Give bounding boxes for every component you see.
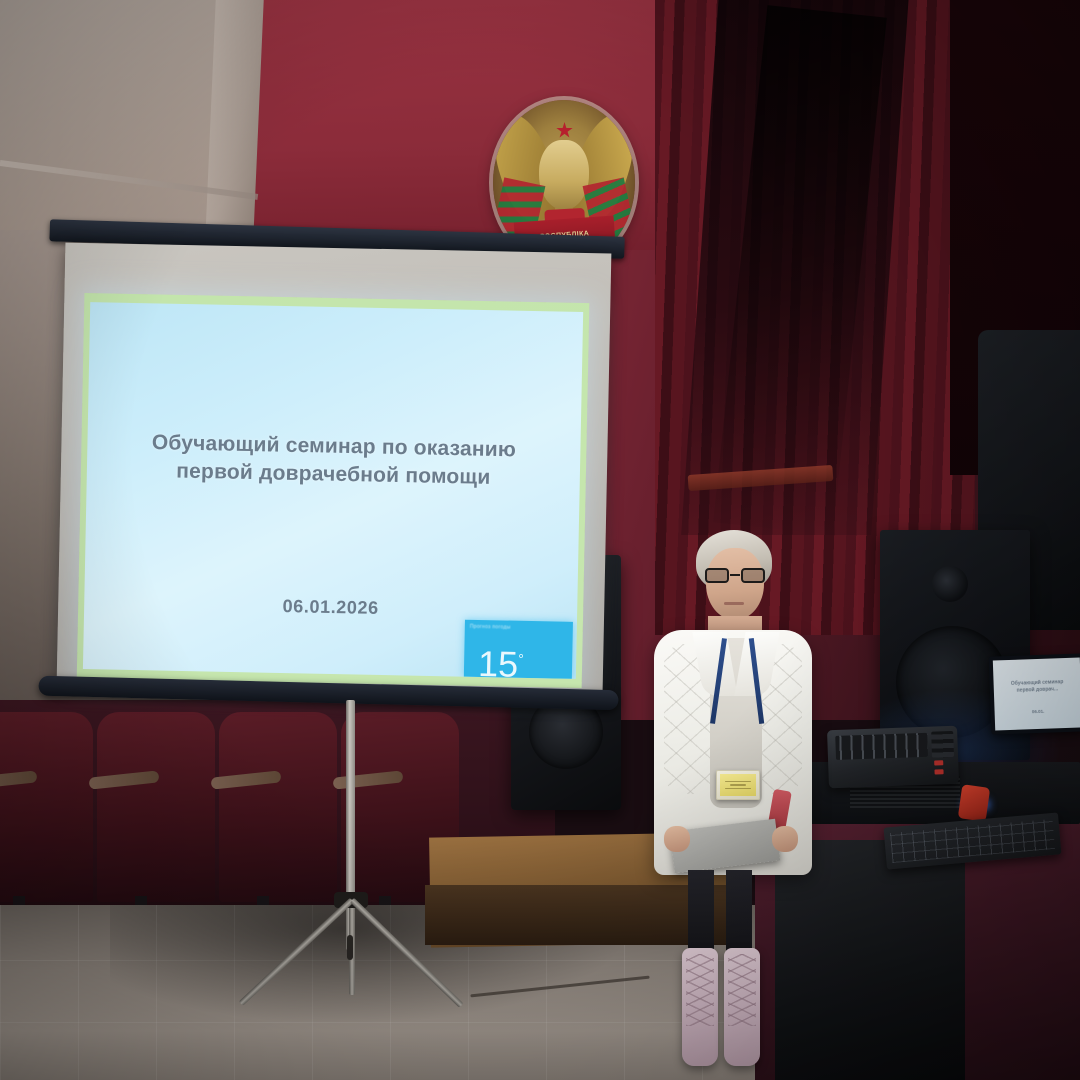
seat [219,712,337,902]
seat [97,712,215,902]
white-quilted-jacket [654,630,812,875]
presenter-mouth [724,602,744,605]
presenter-hand-right [772,826,798,852]
slide-title: Обучающий семинар по оказанию первой дов… [87,428,581,495]
boot-laces [686,954,714,1026]
keyboard-keys[interactable] [890,819,1055,863]
seat-armrest [333,770,404,789]
seat-armrest [89,770,160,789]
id-badge-card [720,774,756,796]
mixer-faders[interactable] [835,733,928,760]
presentation-slide: Обучающий семинар по оказанию первой дов… [83,302,583,679]
weather-overlay-widget[interactable]: Прогноз погоды 15° [464,620,573,679]
seat [0,712,93,902]
badge-text-line [725,781,751,783]
pink-boot-right [724,948,760,1066]
mixer-red-button[interactable] [934,769,943,774]
audio-mixer[interactable] [827,726,959,789]
weather-label: Прогноз погоды [470,624,511,631]
projector-screen: Обучающий семинар по оказанию первой дов… [40,222,625,713]
confidence-monitor: Обучающий семинар первой доврач... 06.01… [989,653,1080,734]
pink-boot-left [682,948,718,1066]
seat-armrest [0,770,37,789]
emblem-star-icon [556,122,573,139]
speaker-tweeter [932,566,968,602]
tripod-center-foot [347,935,353,960]
slide-date: 06.01.2026 [84,592,577,623]
monitor-date: 06.01. [995,708,1080,716]
red-cable-clamp [958,784,990,822]
emblem-globe [539,140,589,210]
eyeglasses-icon [704,568,766,583]
glasses-lens-left [705,568,729,583]
presenter-face [706,548,764,620]
mixer-knobs[interactable] [931,731,954,758]
photo-scene: РЭСПУБЛІКА БЕЛАРУСЬ [0,0,1080,1080]
monitor-title: Обучающий семинар первой доврач... [994,678,1080,695]
glasses-bridge [730,574,740,576]
screen-canvas: Обучающий семинар по оказанию первой дов… [57,243,612,694]
weather-degree-symbol: ° [518,651,524,667]
monitor-screen: Обучающий семинар первой доврач... 06.01… [993,658,1080,731]
badge-text-line [730,784,746,786]
weather-temperature: 15° [478,643,524,679]
projected-slide-area: Обучающий семинар по оказанию первой дов… [77,293,590,688]
presenter-hand-left [664,826,690,852]
seat-armrest [211,770,282,789]
boot-laces [728,954,756,1026]
id-badge [716,770,760,800]
badge-text-line [725,788,751,790]
weather-temp-value: 15 [478,643,519,679]
presenter [648,530,818,1080]
glasses-lens-right [741,568,765,583]
mixer-red-button[interactable] [934,760,943,765]
